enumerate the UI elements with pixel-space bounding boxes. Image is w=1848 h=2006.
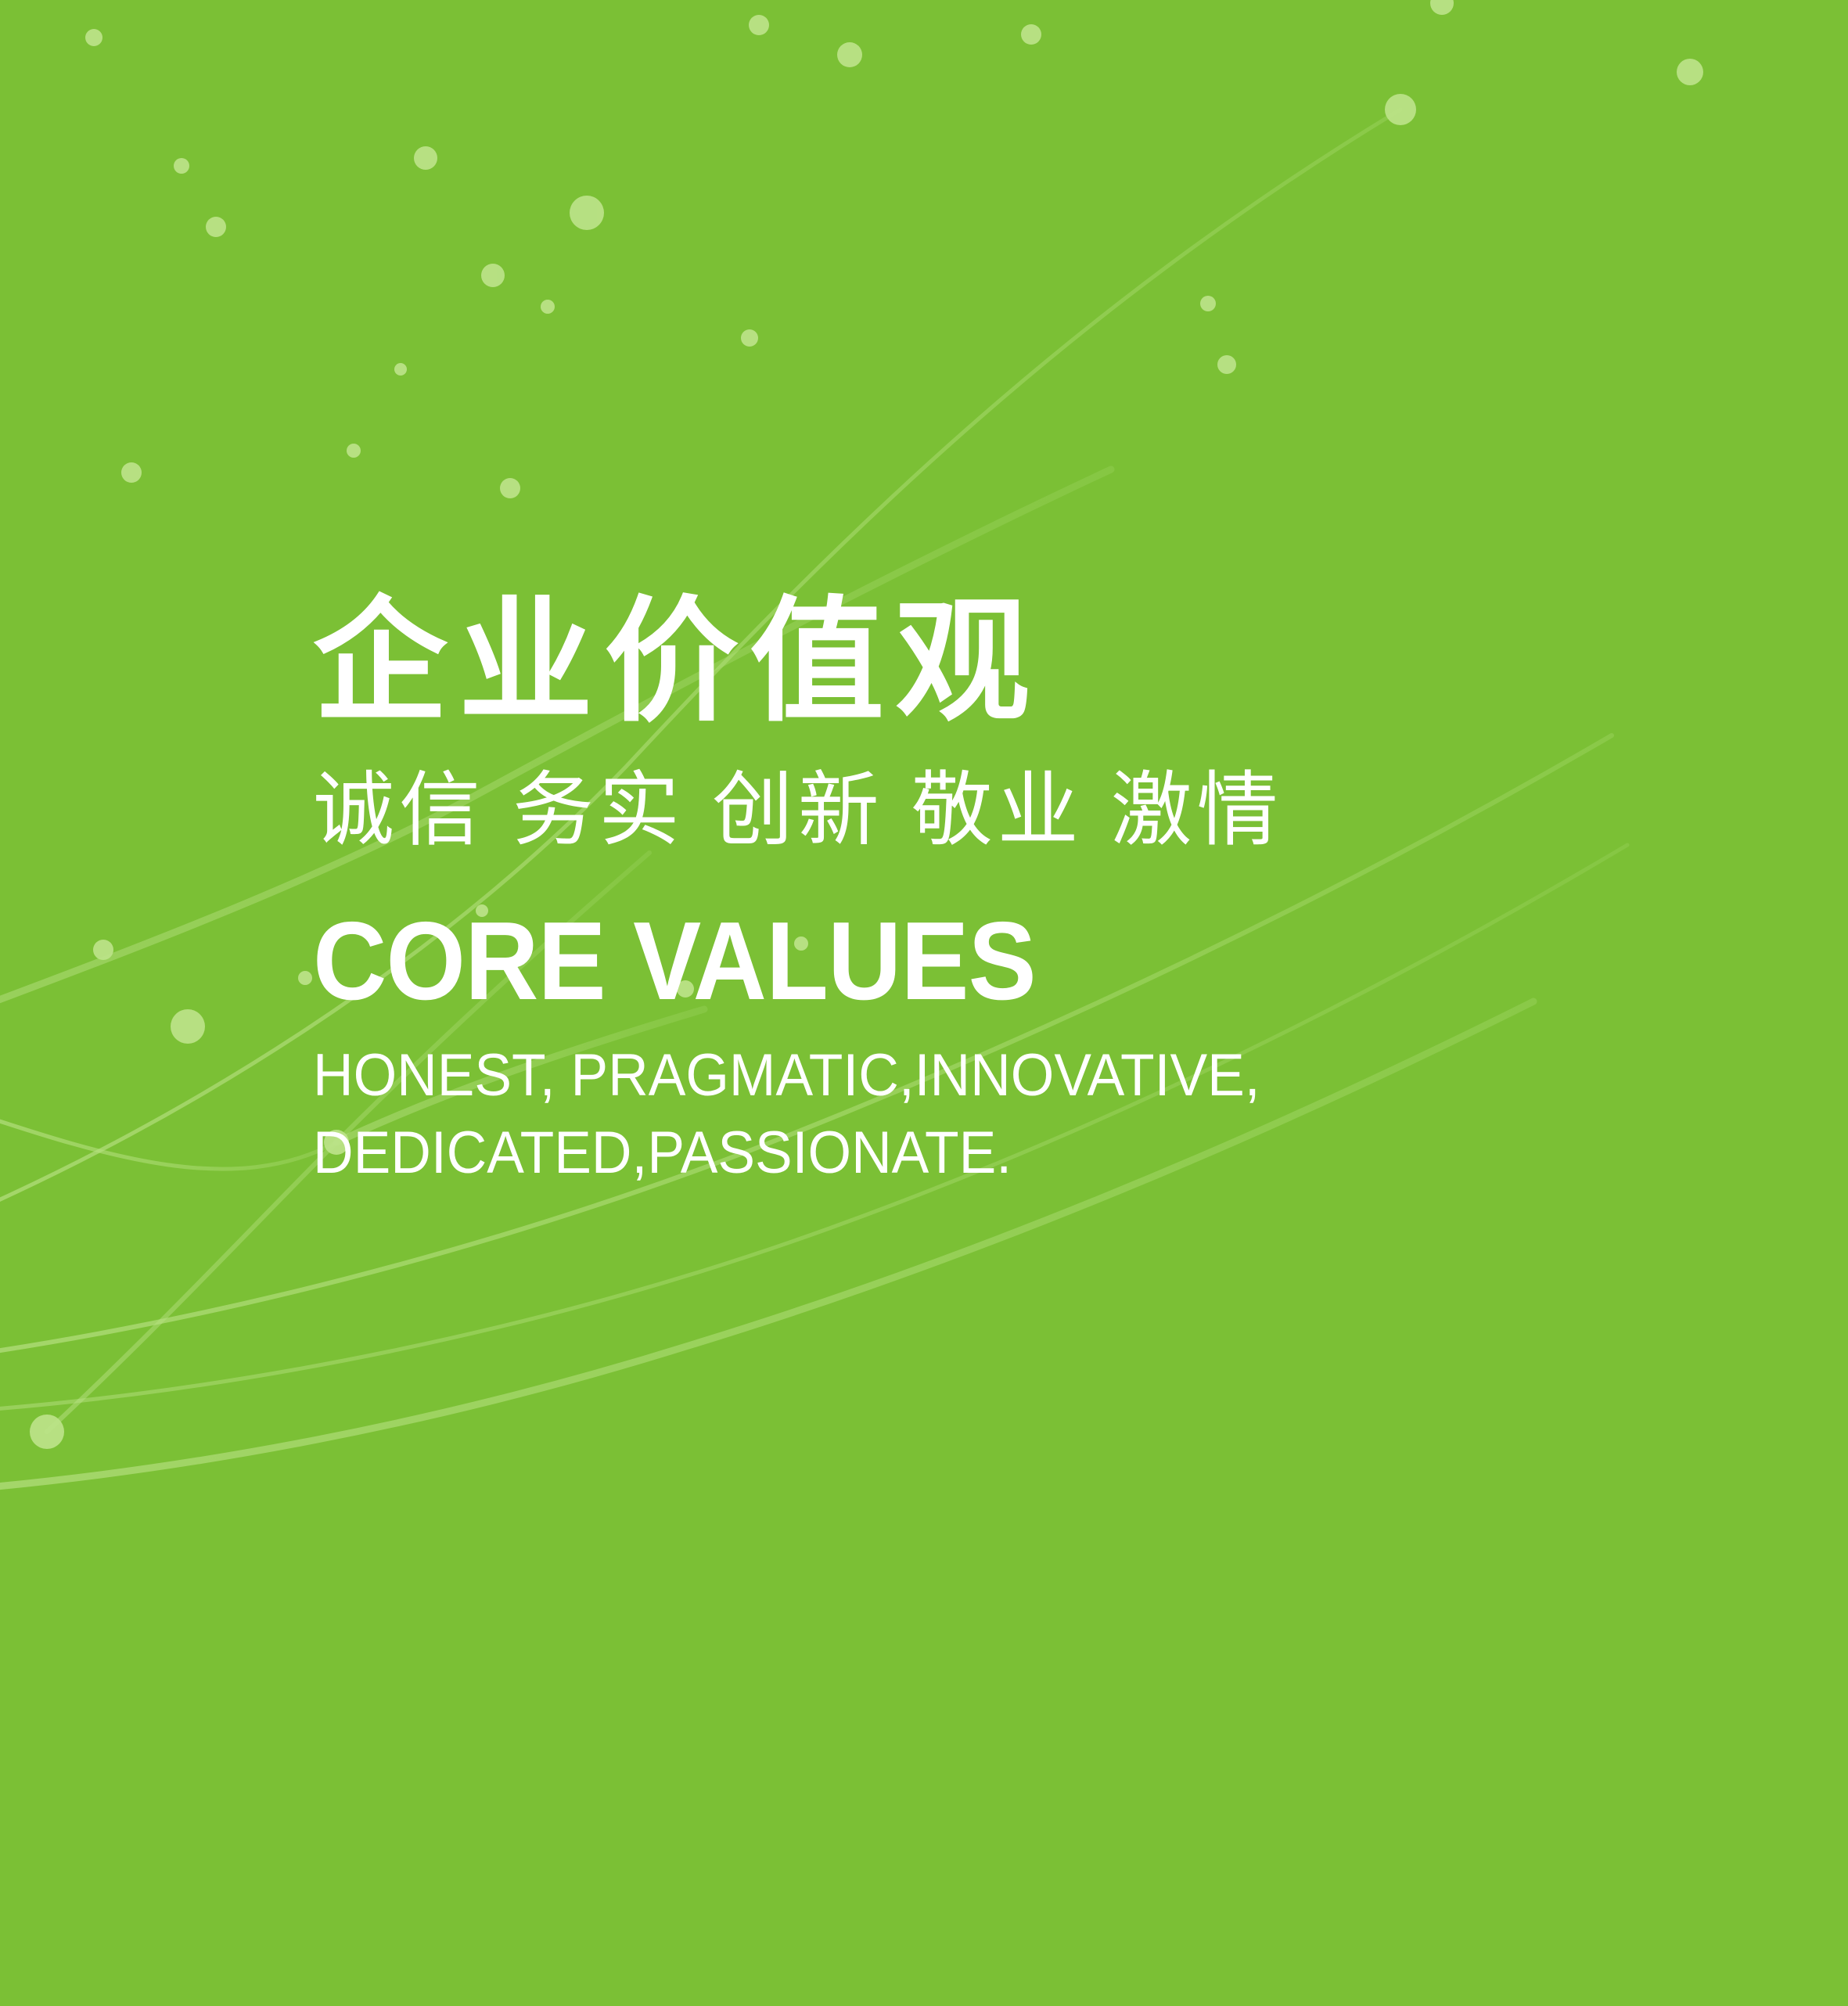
page-title-english: CORE VALUES bbox=[313, 851, 1609, 1017]
page-subtitle-english-line-1: HONEST, PRAGMATIC,INNOVATIVE, bbox=[313, 1037, 1637, 1115]
network-node-dot bbox=[749, 15, 769, 35]
network-node-dot bbox=[1200, 296, 1216, 311]
network-node-dot bbox=[1217, 355, 1236, 374]
core-values-poster: 企业价值观 诚信 务实 创新 敬业 激情 CORE VALUES HONEST,… bbox=[0, 0, 1848, 2006]
network-node-dot bbox=[174, 158, 189, 174]
network-node-dot bbox=[298, 971, 312, 985]
network-node-dot bbox=[347, 444, 361, 458]
network-node-dot bbox=[30, 1415, 64, 1449]
page-subtitle-chinese: 诚信 务实 创新 敬业 激情 bbox=[313, 729, 1721, 851]
network-node-dot bbox=[481, 264, 505, 287]
network-node-dot bbox=[500, 478, 520, 498]
text-content-block: 企业价值观 诚信 务实 创新 敬业 激情 CORE VALUES HONEST,… bbox=[313, 595, 1721, 1192]
page-title-chinese: 企业价值观 bbox=[313, 595, 1721, 729]
network-node-dot bbox=[570, 196, 604, 230]
network-node-dot bbox=[541, 300, 555, 314]
network-node-dot bbox=[121, 462, 142, 483]
network-node-dot bbox=[1677, 59, 1703, 85]
page-subtitle-english-line-2: DEDICATED,PASSIONATE. bbox=[313, 1115, 1637, 1192]
network-node-dot bbox=[1021, 24, 1041, 45]
network-node-dot bbox=[85, 29, 102, 46]
network-node-dot bbox=[206, 217, 226, 237]
network-node-dot bbox=[1385, 94, 1416, 125]
network-node-dot bbox=[171, 1009, 205, 1044]
network-node-dot bbox=[837, 42, 862, 67]
network-node-dot bbox=[93, 940, 113, 960]
network-node-dot bbox=[741, 329, 758, 347]
network-curve bbox=[0, 1111, 336, 1169]
page-subtitle-english: HONEST, PRAGMATIC,INNOVATIVE, DEDICATED,… bbox=[313, 1017, 1637, 1192]
network-node-dot bbox=[394, 363, 407, 376]
network-node-dot bbox=[1430, 0, 1454, 15]
network-node-dot bbox=[414, 146, 437, 170]
